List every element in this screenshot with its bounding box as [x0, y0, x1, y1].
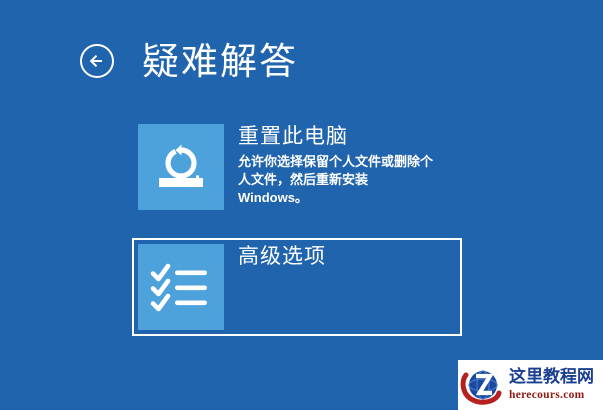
- option-title: 重置此电脑: [238, 125, 434, 149]
- watermark-site-name: 这里教程网: [509, 369, 594, 386]
- option-description: 允许你选择保留个人文件或删除个人文件，然后重新安装 Windows。: [238, 153, 434, 207]
- reset-pc-icon: [138, 124, 224, 210]
- watermark-text: 这里教程网 herecours.com: [509, 369, 594, 402]
- page-title: 疑难解答: [142, 43, 298, 80]
- watermark: 这里教程网 herecours.com: [458, 360, 603, 410]
- option-reset-this-pc-text: 重置此电脑 允许你选择保留个人文件或删除个人文件，然后重新安装 Windows。: [238, 124, 434, 207]
- watermark-site-url: herecours.com: [509, 390, 594, 402]
- watermark-content: 这里教程网 herecours.com: [458, 360, 603, 410]
- troubleshoot-option-list: 重置此电脑 允许你选择保留个人文件或删除个人文件，然后重新安装 Windows。: [132, 118, 462, 336]
- globe-z-logo-icon: [459, 361, 507, 409]
- option-title: 高级选项: [238, 245, 326, 269]
- recovery-environment-screen: 疑难解答 重置此电脑 允许你选择保留个人文件或删除个人文件，然后重新安装 Win…: [0, 0, 603, 407]
- back-arrow-circle-icon[interactable]: [78, 42, 116, 80]
- spacer: [132, 216, 462, 238]
- option-advanced-options-text: 高级选项: [238, 244, 326, 273]
- option-advanced-options[interactable]: 高级选项: [132, 238, 462, 336]
- checklist-icon: [138, 244, 224, 330]
- page-header: 疑难解答: [78, 26, 298, 96]
- option-reset-this-pc[interactable]: 重置此电脑 允许你选择保留个人文件或删除个人文件，然后重新安装 Windows。: [132, 118, 462, 216]
